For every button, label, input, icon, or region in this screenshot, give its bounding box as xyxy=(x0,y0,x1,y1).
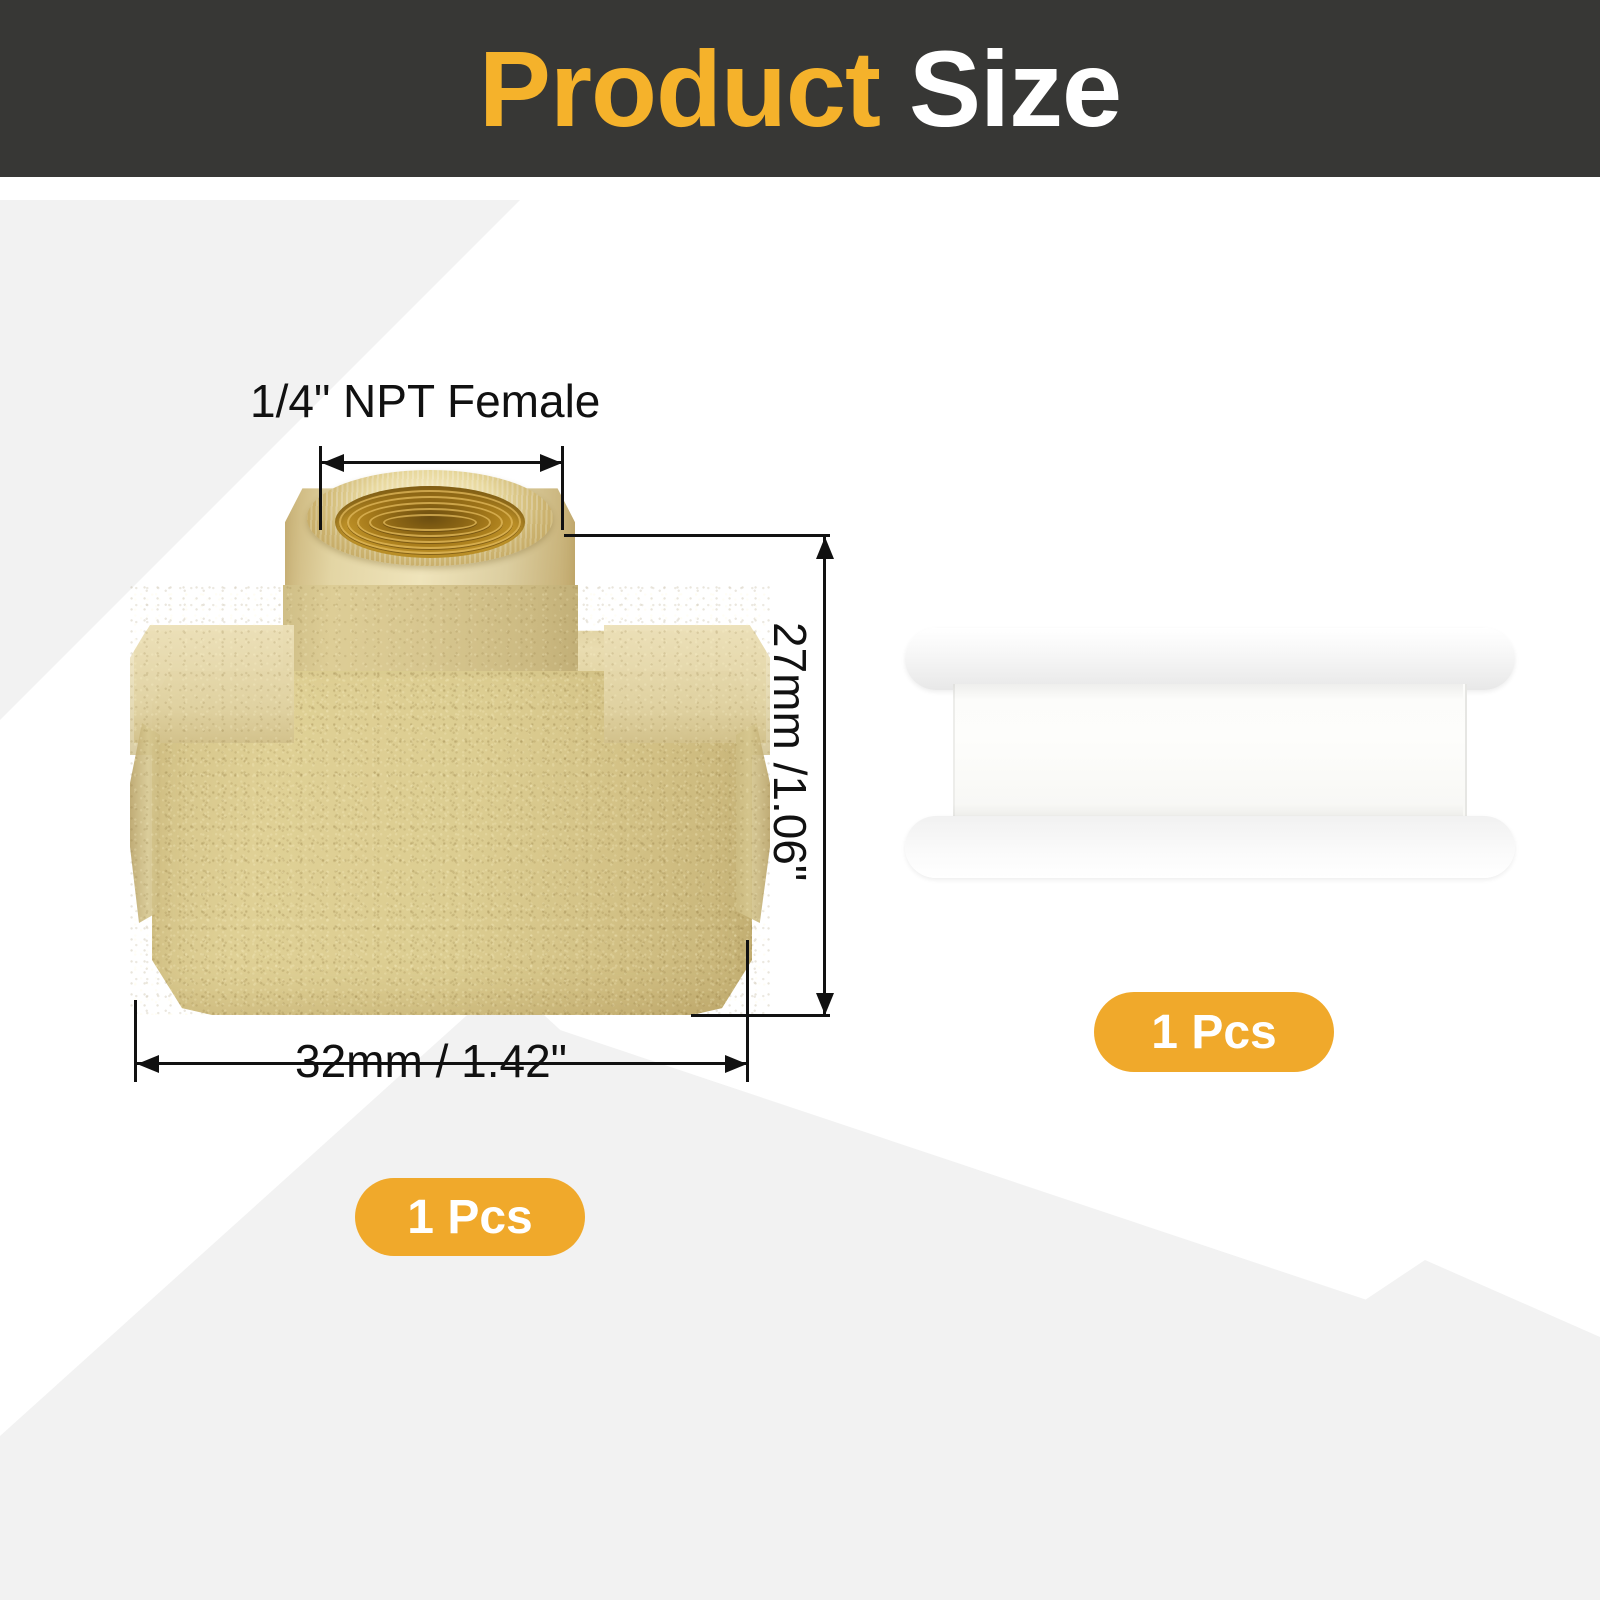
quantity-badge-tape: 1 Pcs xyxy=(1094,992,1334,1072)
infographic-canvas: Product Size xyxy=(0,0,1600,1600)
dim-extension-height-bottom xyxy=(691,1014,830,1017)
overall-height-label: 27mm /1.06" xyxy=(767,622,813,881)
tape-bottom-flange xyxy=(905,816,1515,878)
tee-right-hex-flat xyxy=(604,625,766,743)
tape-top-flange xyxy=(905,628,1515,690)
dim-line-overall-height xyxy=(823,537,826,1015)
ptfe-thread-seal-tape-image xyxy=(905,628,1515,878)
tee-left-hex-flat xyxy=(134,625,294,743)
page-title: Product Size xyxy=(479,35,1121,143)
quantity-badge-tee: 1 Pcs xyxy=(355,1178,585,1256)
header-bar: Product Size xyxy=(0,0,1600,177)
dim-line-port-width xyxy=(322,461,562,464)
bg-shape-right xyxy=(560,1030,1600,1600)
dim-arrow-port-left xyxy=(322,454,344,472)
dim-extension-height-top xyxy=(564,534,830,537)
port-size-label: 1/4" NPT Female xyxy=(250,378,600,424)
brass-tee-fitting-image xyxy=(130,470,770,1020)
tee-body xyxy=(130,585,770,1015)
port-threaded-bore xyxy=(335,486,525,558)
dim-arrow-width-left xyxy=(137,1055,159,1073)
dim-arrow-height-bottom xyxy=(816,993,834,1015)
dim-arrow-port-right xyxy=(540,454,562,472)
page-title-rest: Size xyxy=(880,28,1121,149)
tape-shadow-top xyxy=(953,684,1463,700)
thread-ring xyxy=(383,514,477,531)
dim-arrow-width-right xyxy=(725,1055,747,1073)
page-title-highlight: Product xyxy=(479,28,880,149)
quantity-badge-tee-label: 1 Pcs xyxy=(407,1190,532,1245)
overall-width-label: 32mm / 1.42" xyxy=(295,1038,567,1084)
quantity-badge-tape-label: 1 Pcs xyxy=(1151,1005,1276,1060)
dim-arrow-height-top xyxy=(816,537,834,559)
tape-wrap xyxy=(953,684,1467,820)
bg-shape-bottomright xyxy=(900,1260,1600,1600)
